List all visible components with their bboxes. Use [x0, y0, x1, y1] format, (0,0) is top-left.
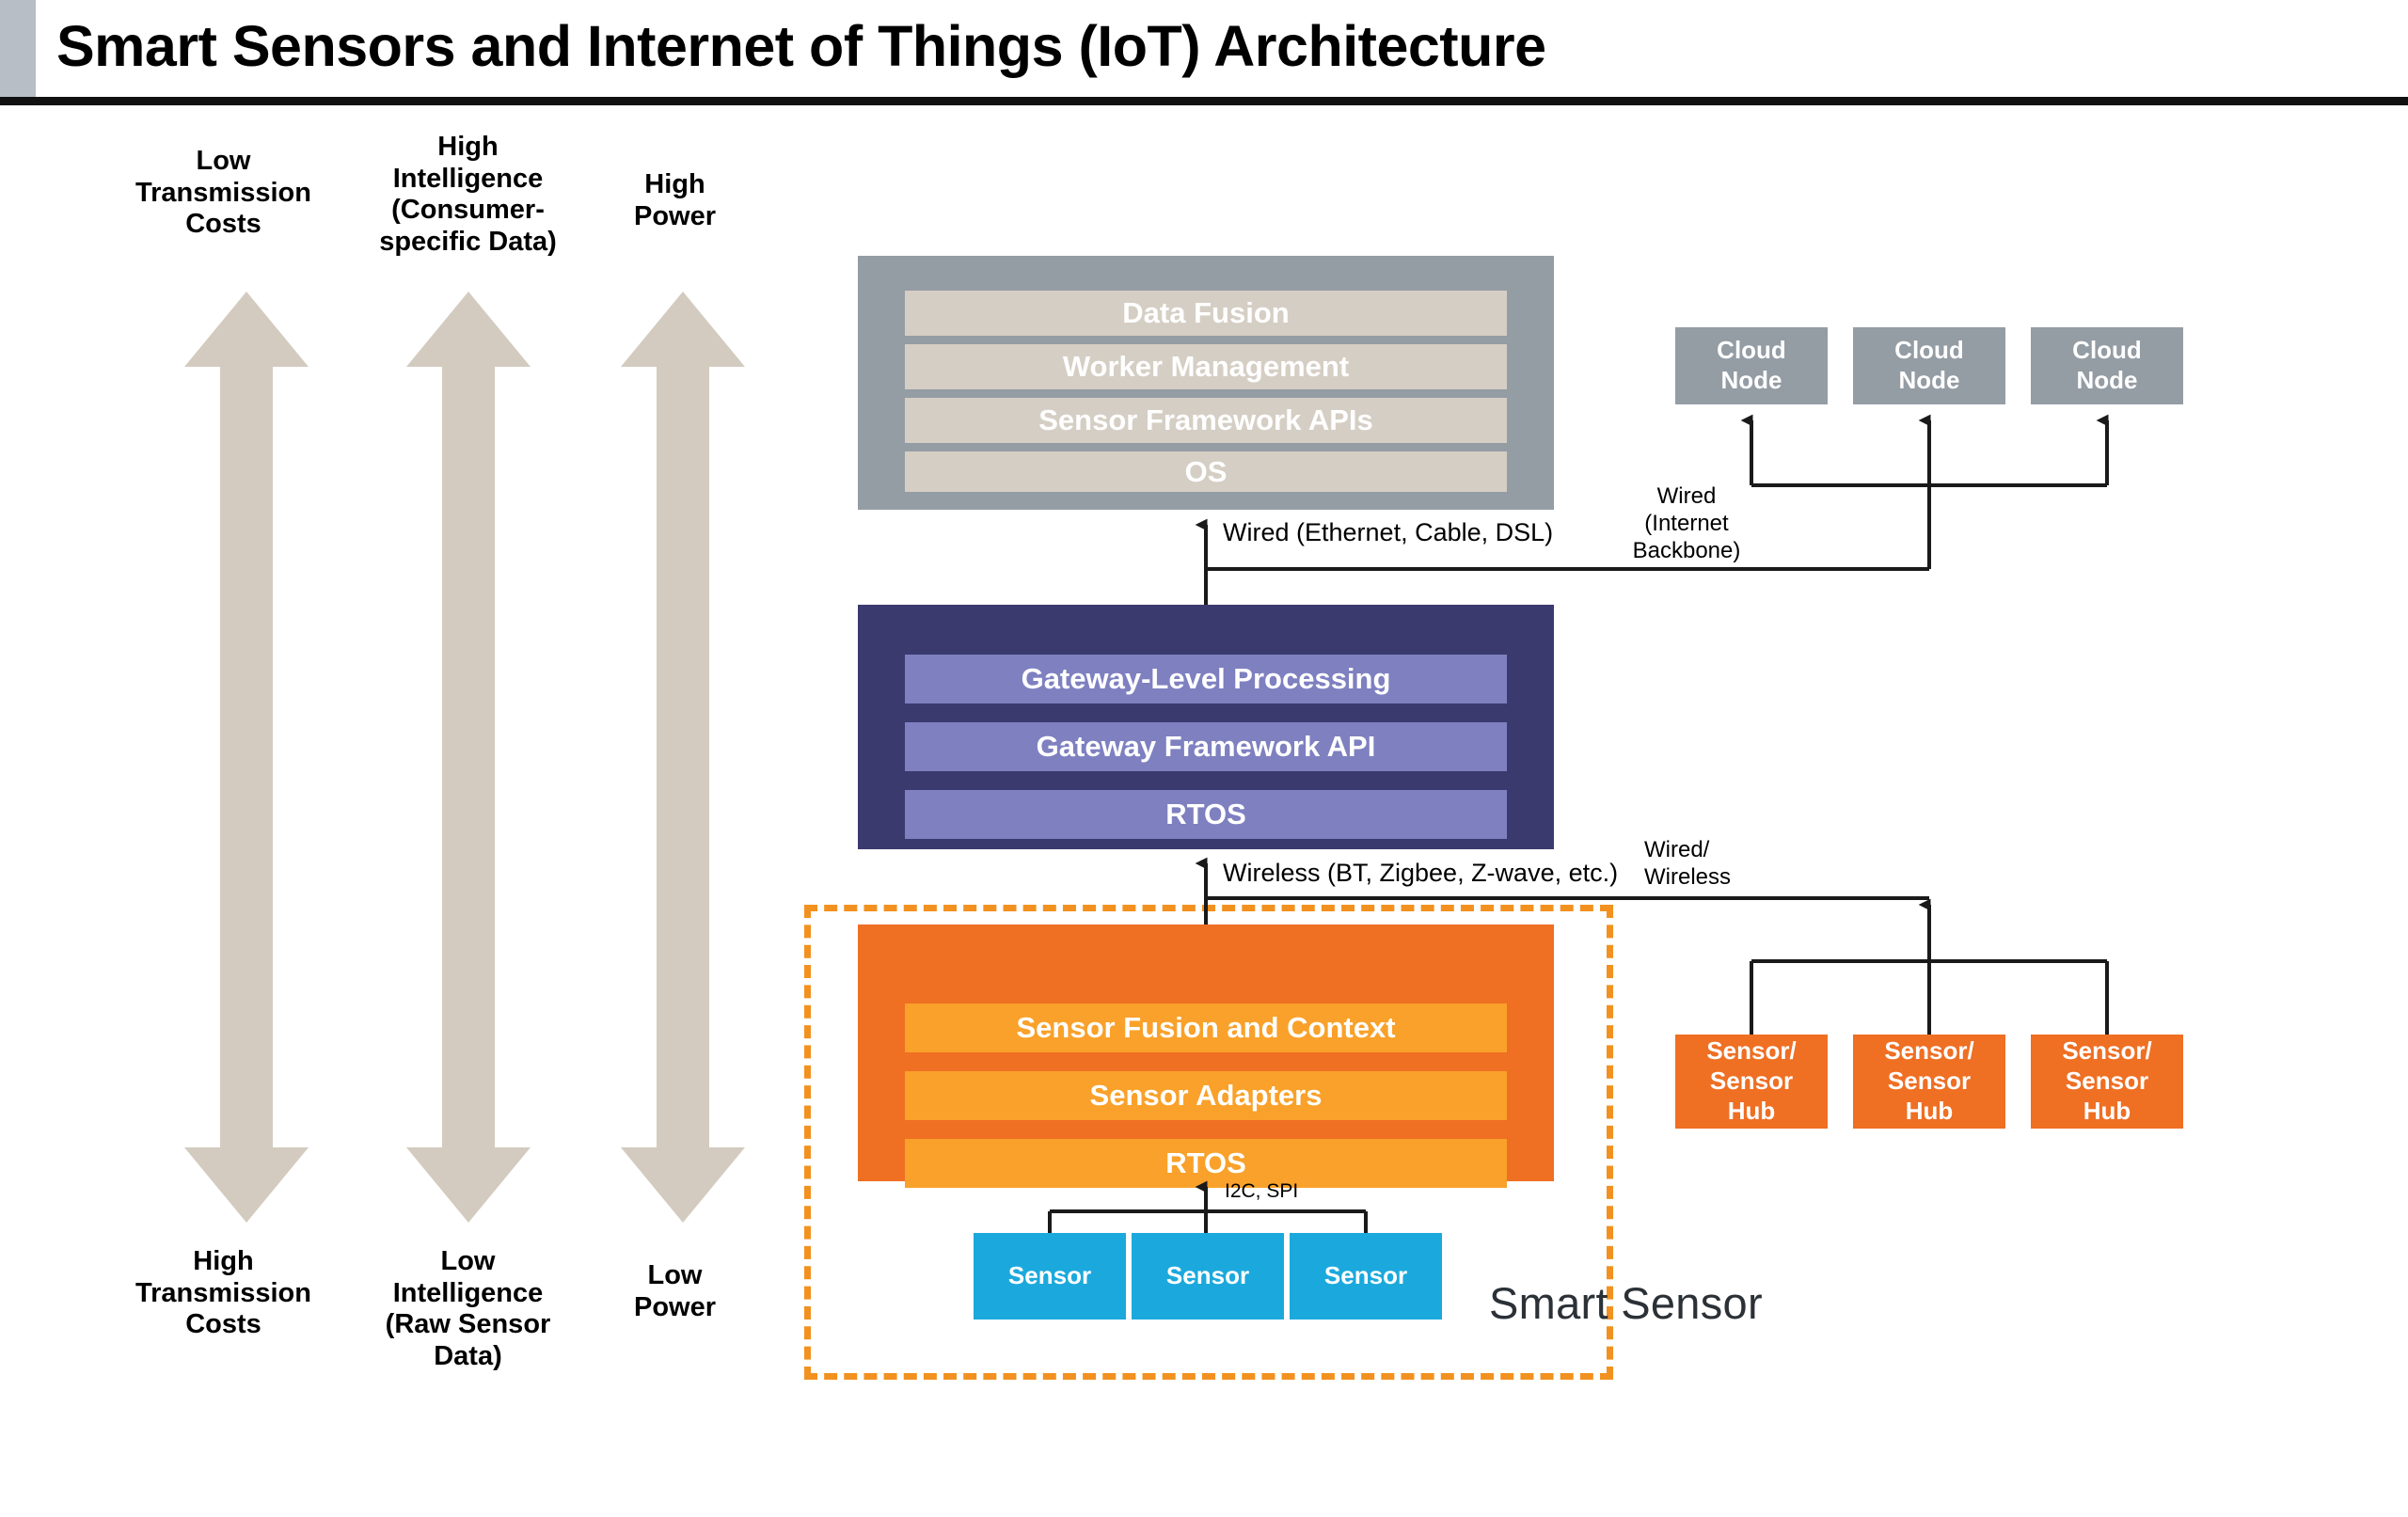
sensor-hub-1[interactable]: Sensor/SensorHub — [1675, 1035, 1828, 1129]
page-header: Smart Sensors and Internet of Things (Io… — [0, 0, 2408, 103]
double-arrow-icon-intelligence — [406, 292, 531, 1223]
header-accent-bar — [0, 0, 36, 97]
cloud-server-stack: Data Fusion Worker Management Sensor Fra… — [858, 256, 1554, 510]
double-arrow-icon-power — [621, 292, 745, 1223]
gauge-label-power-bottom: LowPower — [583, 1260, 767, 1323]
label-wired-internet-backbone: Wired(InternetBackbone) — [1616, 483, 1757, 564]
sensor-hub-label: Sensor/SensorHub — [1706, 1036, 1796, 1126]
page-title: Smart Sensors and Internet of Things (Io… — [56, 13, 1546, 79]
sensor-hub-3[interactable]: Sensor/SensorHub — [2031, 1035, 2183, 1129]
cloud-band-label: Data Fusion — [1122, 296, 1289, 330]
cloud-band-data-fusion[interactable]: Data Fusion — [905, 291, 1507, 336]
gauge-label-power-top: HighPower — [583, 169, 767, 232]
cloud-node-label: CloudNode — [1717, 336, 1786, 395]
cloud-node-label: CloudNode — [1894, 336, 1964, 395]
label-wired-wireless: Wired/Wireless — [1644, 837, 1785, 892]
cloud-band-sensor-framework-apis[interactable]: Sensor Framework APIs — [905, 398, 1507, 443]
smart-sensor-band-label: Sensor Adapters — [1090, 1079, 1323, 1113]
smart-sensor-caption: Smart Sensor — [1489, 1277, 1763, 1329]
sensor-label: Sensor — [1324, 1261, 1407, 1291]
gauge-label-transmission-bottom: HighTransmissionCosts — [122, 1246, 325, 1341]
cloud-node-label: CloudNode — [2072, 336, 2142, 395]
sensor-hub-label: Sensor/SensorHub — [1884, 1036, 1973, 1126]
gateway-band-label: Gateway-Level Processing — [1022, 662, 1391, 696]
sensor-box-3[interactable]: Sensor — [1290, 1233, 1442, 1319]
sensor-box-2[interactable]: Sensor — [1132, 1233, 1284, 1319]
double-arrow-icon-transmission — [184, 292, 309, 1223]
gauge-label-intelligence-top: HighIntelligence(Consumer-specific Data) — [362, 132, 574, 259]
smart-sensor-band-label: Sensor Fusion and Context — [1016, 1011, 1395, 1045]
gateway-band-framework-api[interactable]: Gateway Framework API — [905, 722, 1507, 771]
gauge-label-transmission-top: LowTransmissionCosts — [122, 146, 325, 241]
cloud-node-3[interactable]: CloudNode — [2031, 327, 2183, 404]
gateway-band-label: RTOS — [1165, 798, 1246, 831]
gateway-stack: Gateway-Level Processing Gateway Framewo… — [858, 605, 1554, 849]
cloud-band-worker-management[interactable]: Worker Management — [905, 344, 1507, 389]
cloud-band-label: Worker Management — [1063, 350, 1349, 384]
cloud-node-2[interactable]: CloudNode — [1853, 327, 2005, 404]
gateway-band-label: Gateway Framework API — [1037, 730, 1376, 764]
gateway-band-rtos[interactable]: RTOS — [905, 790, 1507, 839]
smart-sensor-stack: Sensor Fusion and Context Sensor Adapter… — [858, 924, 1554, 1181]
label-wireless: Wireless (BT, Zigbee, Z-wave, etc.) — [1223, 859, 1618, 888]
smart-sensor-band-rtos[interactable]: RTOS — [905, 1139, 1507, 1188]
sensor-hub-label: Sensor/SensorHub — [2062, 1036, 2151, 1126]
label-wired-ethernet: Wired (Ethernet, Cable, DSL) — [1223, 518, 1553, 547]
cloud-band-label: OS — [1185, 455, 1228, 489]
cloud-band-os[interactable]: OS — [905, 451, 1507, 492]
gauge-label-intelligence-bottom: LowIntelligence(Raw SensorData) — [362, 1246, 574, 1373]
cloud-node-1[interactable]: CloudNode — [1675, 327, 1828, 404]
sensor-hub-2[interactable]: Sensor/SensorHub — [1853, 1035, 2005, 1129]
gateway-band-processing[interactable]: Gateway-Level Processing — [905, 655, 1507, 703]
cloud-band-label: Sensor Framework APIs — [1038, 403, 1373, 437]
smart-sensor-band-label: RTOS — [1165, 1146, 1246, 1180]
sensor-label: Sensor — [1166, 1261, 1249, 1291]
smart-sensor-band-fusion-context[interactable]: Sensor Fusion and Context — [905, 1003, 1507, 1052]
label-i2c-spi: I2C, SPI — [1225, 1180, 1298, 1203]
sensor-box-1[interactable]: Sensor — [974, 1233, 1126, 1319]
header-divider — [0, 97, 2408, 105]
smart-sensor-band-adapters[interactable]: Sensor Adapters — [905, 1071, 1507, 1120]
sensor-label: Sensor — [1008, 1261, 1091, 1291]
